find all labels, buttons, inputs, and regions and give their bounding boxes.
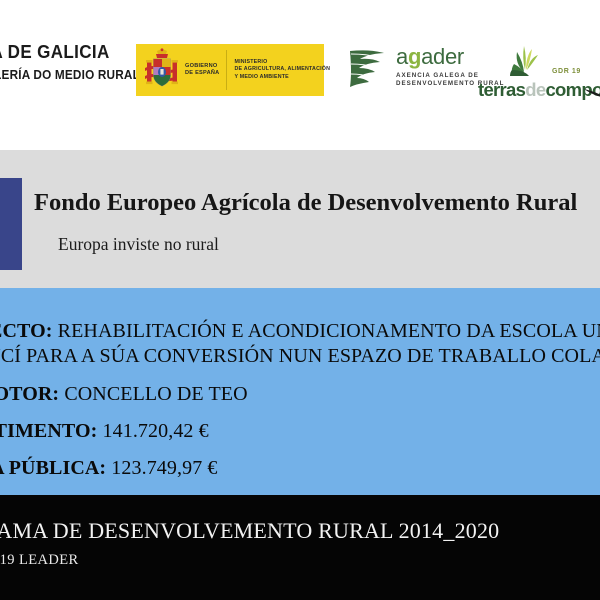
promoter-label: PROMOTOR: xyxy=(0,383,59,405)
gobierno-line2: DE ESPAÑA xyxy=(185,70,219,77)
feader-poster: XUNTA DE GALICIA CONSELLERÍA DO MEDIO RU… xyxy=(0,0,600,600)
project-value-line2: DE LUCÍ PARA A SÚA CONVERSIÓN NUN ESPAZO… xyxy=(0,345,600,367)
agader-letter-g: g xyxy=(408,44,421,69)
spain-coat-of-arms-icon xyxy=(145,48,179,92)
public-aid-value: 123.749,97 € xyxy=(111,457,217,479)
agader-wordmark: agader xyxy=(396,44,464,69)
agader-letters-ader: ader xyxy=(421,44,464,69)
terras-de-compostela-logo: GDR 19 terrasdecompostela xyxy=(478,42,600,104)
xunta-logo-line1: XUNTA DE GALICIA xyxy=(0,41,119,62)
gobierno-de-espana-logo: GOBIERNO DE ESPAÑA MINISTERIO DE AGRICUL… xyxy=(136,44,324,96)
terras-word-terras: terras xyxy=(478,79,525,100)
agader-leaf-mark-icon xyxy=(348,47,392,89)
logo-divider xyxy=(226,50,227,90)
terras-swoosh-icon xyxy=(584,86,600,102)
investment-row: INVESTIMENTO: 141.720,42 € xyxy=(0,420,209,443)
terras-wordmark: terrasdecompostela xyxy=(478,80,600,100)
agader-letter-a: a xyxy=(396,44,408,69)
project-value-line1: REHABILITACIÓN E ACONDICIONAMENTO DA ESC… xyxy=(58,320,600,342)
ministerio-line2: DE AGRICULTURA, ALIMENTACIÓN xyxy=(234,66,330,73)
ministerio-line3: Y MEDIO AMBIENTE xyxy=(234,74,330,81)
eu-flag-block xyxy=(0,178,22,270)
ministerio-text: MINISTERIO DE AGRICULTURA, ALIMENTACIÓN … xyxy=(234,59,330,81)
project-row-line1: PROXECTO: REHABILITACIÓN E ACONDICIONAME… xyxy=(0,320,600,343)
terras-gdr-label: GDR 19 xyxy=(552,68,581,75)
measure-label: MEDIDA 19 LEADER xyxy=(0,552,79,569)
programme-title: PROGRAMA DE DESENVOLVEMENTO RURAL 2014_2… xyxy=(0,518,499,544)
feader-title-band: Fondo Europeo Agrícola de Desenvolvement… xyxy=(0,150,600,288)
project-row-line2: DE LUCÍ PARA A SÚA CONVERSIÓN NUN ESPAZO… xyxy=(0,345,600,368)
promoter-row: PROMOTOR: CONCELLO DE TEO xyxy=(0,383,248,406)
xunta-logo-line2: CONSELLERÍA DO MEDIO RURAL xyxy=(0,66,119,84)
project-info-band: PROXECTO: REHABILITACIÓN E ACONDICIONAME… xyxy=(0,288,600,495)
feader-title: Fondo Europeo Agrícola de Desenvolvement… xyxy=(34,189,577,217)
gobierno-text: GOBIERNO DE ESPAÑA xyxy=(185,63,219,77)
terras-word-de: de xyxy=(525,79,545,100)
project-label: PROXECTO: xyxy=(0,320,53,342)
gobierno-line1: GOBIERNO xyxy=(185,63,219,70)
investment-value: 141.720,42 € xyxy=(103,420,209,442)
feader-subtitle: Europa inviste no rural xyxy=(58,234,219,255)
public-aid-row: AXUDA PÚBLICA: 123.749,97 € xyxy=(0,457,218,480)
agader-logo: agader AXENCIA GALEGA DE DESENVOLVEMENTO… xyxy=(348,44,468,98)
public-aid-label: AXUDA PÚBLICA: xyxy=(0,457,106,479)
logo-bar: XUNTA DE GALICIA CONSELLERÍA DO MEDIO RU… xyxy=(0,0,600,150)
terras-leaf-icon xyxy=(500,42,552,82)
investment-label: INVESTIMENTO: xyxy=(0,420,97,442)
xunta-de-galicia-logo: XUNTA DE GALICIA CONSELLERÍA DO MEDIO RU… xyxy=(0,41,134,84)
promoter-value: CONCELLO DE TEO xyxy=(64,383,247,405)
programme-footer-band: PROGRAMA DE DESENVOLVEMENTO RURAL 2014_2… xyxy=(0,495,600,600)
